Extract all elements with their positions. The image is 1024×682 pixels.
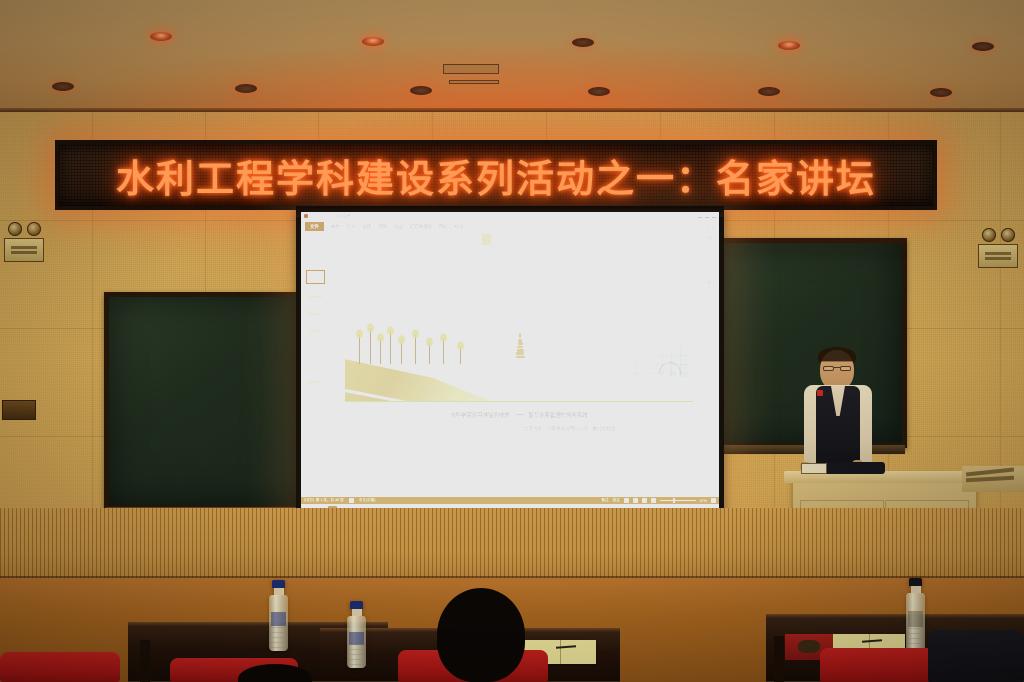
thumbnail-number: 2 [302, 287, 305, 290]
spot-light-icon [1001, 228, 1015, 242]
tree [401, 340, 402, 364]
numbering-button[interactable] [416, 234, 422, 239]
bottle-label [271, 612, 286, 627]
thumbnail-number: 3 [302, 304, 305, 307]
tree [380, 338, 381, 364]
tree [415, 334, 416, 364]
align-center-button[interactable] [432, 234, 438, 239]
slide-headline: 水科学实验高端监测技术 ⟶ 智慧水务管理的创新实践 [450, 411, 587, 419]
recessed-ceiling-light [572, 38, 594, 47]
table-leg [774, 636, 784, 682]
blackboard-left [104, 292, 304, 510]
reset-button[interactable] [334, 238, 352, 240]
slide-footnote: 本页内容仅供参考 [367, 468, 393, 473]
strikethrough-button[interactable] [393, 234, 399, 239]
underline-button[interactable] [377, 234, 383, 239]
thumbnail-slide[interactable] [306, 372, 325, 386]
bottle-neck [911, 586, 921, 593]
ceiling-vent [449, 80, 499, 84]
wall-sign-plate [978, 244, 1018, 268]
notes-pane-button[interactable]: 备注 [706, 276, 717, 288]
slide-sorter-icon[interactable] [633, 498, 638, 503]
water-bottle [347, 601, 366, 668]
blueprint-grid-overlay [554, 289, 693, 401]
recessed-ceiling-light [930, 88, 952, 97]
tab-review[interactable]: 审阅 [439, 224, 448, 232]
lecture-hall-photo: 水利工程学科建设系列活动之一：名家讲坛 演示文稿 文件 开始 插入 设计 切换 … [0, 0, 1024, 682]
language-label[interactable]: 中文(中国) [359, 498, 376, 503]
notes-toggle[interactable]: 备注 [601, 498, 608, 503]
tree [443, 338, 444, 364]
tree [390, 331, 391, 364]
thumbnail-slide[interactable] [306, 355, 325, 369]
thumbnail-number: 1 [302, 270, 305, 273]
align-right-button[interactable] [440, 234, 446, 239]
bullets-button[interactable] [408, 234, 414, 239]
thumbnail-item[interactable]: 8 [302, 389, 325, 403]
vest [816, 386, 860, 472]
ribbon-group-label: 剪贴板 [305, 263, 314, 267]
side-table [962, 466, 1024, 492]
thumbnail-number: 7 [302, 372, 305, 375]
bottle-body [269, 595, 288, 651]
thumbnail-slide[interactable] [306, 389, 325, 403]
fit-to-window-icon[interactable] [711, 498, 716, 503]
headline-right-text: 智慧水务管理的创新实践 [528, 411, 587, 419]
layout-button[interactable] [334, 234, 352, 236]
ribbon-group-clipboard[interactable]: 剪贴板 [301, 232, 319, 267]
recessed-ceiling-light [588, 87, 610, 96]
shape-fill-button[interactable] [482, 234, 491, 245]
spot-light-icon [8, 222, 22, 236]
slideshow-icon[interactable] [651, 498, 656, 503]
glasses-icon [823, 365, 851, 371]
bold-button[interactable] [361, 234, 367, 239]
align-left-button[interactable] [424, 234, 430, 239]
tab-home[interactable]: 开始 [331, 224, 340, 232]
ribbon-group-paragraph[interactable]: 段落 [404, 232, 459, 267]
ppt-ribbon-tabs[interactable]: 文件 开始 插入 设计 切换 动画 幻灯片放映 审阅 视图 登录 [301, 221, 719, 232]
ppt-title-bar: 演示文稿 [301, 212, 719, 221]
thumbnail-item[interactable]: 3 [302, 304, 325, 318]
find-icon[interactable] [699, 235, 705, 240]
wall-outlet-box-left [2, 400, 36, 420]
bottle-body [347, 616, 366, 668]
ppt-ribbon[interactable]: 剪贴板 幻灯片 [301, 232, 719, 268]
ppt-status-bar[interactable]: 幻灯片 第 1 张，共 46 张 中文(中国) 备注 批注 87% [301, 497, 719, 504]
ribbon-group-slides[interactable]: 幻灯片 [319, 232, 357, 267]
shadow-button[interactable] [385, 234, 391, 239]
arrow-icon: ⟶ [516, 412, 523, 418]
replace-icon[interactable] [708, 242, 714, 247]
thumbnail-item[interactable]: 7 [302, 372, 325, 386]
led-banner-text: 水利工程学科建设系列活动之一：名家讲坛 [116, 148, 876, 203]
italic-button[interactable] [369, 234, 375, 239]
spot-light-icon [982, 228, 996, 242]
new-slide-button[interactable] [323, 234, 332, 254]
tab-slideshow[interactable]: 幻灯片放映 [410, 224, 432, 232]
normal-view-icon[interactable] [624, 498, 629, 503]
bottle-ribs [347, 644, 366, 665]
thumbnail-slide[interactable] [306, 304, 325, 318]
thumbnail-slide[interactable] [306, 321, 325, 335]
ribbon-group-label: 绘图 [463, 263, 491, 267]
section-button[interactable] [334, 241, 345, 243]
powerpoint-window: 演示文稿 文件 开始 插入 设计 切换 动画 幻灯片放映 审阅 视图 登录 剪贴… [301, 212, 719, 511]
laptop-on-lectern [801, 463, 827, 474]
save-icon[interactable] [304, 214, 308, 218]
thumbnail-number: 6 [302, 355, 305, 358]
tab-insert[interactable]: 插入 [347, 224, 356, 232]
slide-subtitle: 北京尚水信息技术股份有限公司 曲兆松博士 [524, 426, 616, 432]
ceiling-vent [443, 64, 499, 74]
table-leg [140, 640, 150, 682]
projection-screen: 演示文稿 文件 开始 插入 设计 切换 动画 幻灯片放映 审阅 视图 登录 剪贴… [296, 206, 724, 518]
ribbon-group-label: 字体 [361, 263, 399, 267]
water-bottle [269, 580, 288, 651]
jacket-on-chair [928, 630, 1024, 682]
thumbnail-item[interactable]: 2 [302, 287, 325, 301]
pagoda [516, 333, 525, 359]
led-banner: 水利工程学科建设系列活动之一：名家讲坛 [55, 140, 937, 210]
thumbnail-number: 5 [302, 338, 305, 341]
ceiling [0, 0, 1024, 112]
bottle-ribs [269, 625, 288, 647]
tab-view[interactable]: 视图 [455, 224, 464, 232]
bottle-neck [352, 609, 362, 616]
spot-light-icon [27, 222, 41, 236]
recessed-ceiling-light [362, 37, 384, 46]
sign-in-link[interactable]: 登录 [707, 224, 715, 232]
thumbnail-number: 4 [302, 321, 305, 324]
ribbon-group-label: 段落 [408, 263, 454, 267]
bottle-label [908, 611, 923, 627]
thumbnail-item[interactable]: 5 [302, 338, 325, 352]
bottle-cap [272, 580, 285, 588]
wall-speaker-fixture-left [4, 222, 44, 262]
zoom-slider[interactable] [660, 500, 696, 501]
ribbon-group-editing[interactable]: 编辑 [699, 232, 719, 267]
thumbnail-slide[interactable] [306, 287, 325, 301]
slide-editing-area[interactable]: 水科学实验高端监测技术 ⟶ 智慧水务管理的创新实践 北京尚水信息技术股份有限公司… [327, 268, 719, 497]
headline-left-text: 水科学实验高端监测技术 [450, 411, 509, 419]
audience-head [437, 588, 525, 682]
bottle-cap [909, 578, 922, 586]
recessed-ceiling-light [52, 82, 74, 91]
thumbnail-item[interactable]: 6 [302, 355, 325, 369]
thumbnail-slide[interactable] [306, 338, 325, 352]
ppt-workspace: 1 2 3 4 5 [301, 268, 719, 497]
bottle-body [906, 593, 925, 653]
recessed-ceiling-light [758, 87, 780, 96]
recessed-ceiling-light [972, 42, 994, 51]
slide-thumbnail-panel[interactable]: 1 2 3 4 5 [301, 268, 327, 497]
zoom-level[interactable]: 87% [700, 499, 707, 503]
window-controls[interactable] [698, 214, 716, 218]
audience-chair [0, 652, 120, 682]
bottle-ribs [906, 625, 925, 649]
bottle-neck [274, 588, 284, 595]
ribbon-group-label: 幻灯片 [323, 263, 352, 267]
tree [429, 342, 430, 364]
thumbnail-slide[interactable] [306, 270, 325, 284]
current-slide[interactable]: 水科学实验高端监测技术 ⟶ 智慧水务管理的创新实践 北京尚水信息技术股份有限公司… [337, 274, 701, 489]
thumbnail-number: 8 [302, 389, 305, 392]
microphone [823, 462, 885, 474]
tree [370, 328, 371, 364]
ppt-document-title: 演示文稿 [336, 214, 350, 219]
side-table-item [966, 476, 1014, 483]
slide-counter: 幻灯片 第 1 张，共 46 张 [304, 498, 344, 503]
tree [460, 346, 461, 364]
comments-toggle[interactable]: 批注 [613, 498, 620, 503]
ribbon-group-drawing[interactable]: 绘图 [459, 232, 496, 267]
tab-design[interactable]: 设计 [362, 224, 371, 232]
shapes-gallery[interactable] [463, 234, 480, 245]
lapel-badge [817, 390, 823, 396]
thumbnail-item[interactable]: 1 [302, 270, 325, 284]
folder-emblem [798, 640, 819, 654]
paste-button[interactable] [305, 234, 314, 254]
wall-sign-plate [4, 238, 44, 262]
language-icon[interactable] [349, 498, 354, 503]
tree [359, 334, 360, 364]
quick-access-toolbar[interactable] [311, 215, 333, 217]
thumbnail-item[interactable]: 4 [302, 321, 325, 335]
line-spacing-button[interactable] [448, 234, 454, 239]
bottle-cap [350, 601, 363, 609]
reading-view-icon[interactable] [642, 498, 647, 503]
ribbon-group-label: 编辑 [707, 235, 714, 240]
tab-transitions[interactable]: 切换 [378, 224, 387, 232]
recessed-ceiling-light [150, 32, 172, 41]
tab-file[interactable]: 文件 [305, 222, 324, 231]
tab-animations[interactable]: 动画 [394, 224, 403, 232]
slide-hero-image [345, 289, 693, 402]
table-edge [766, 614, 1024, 618]
water-bottle [906, 578, 925, 653]
recessed-ceiling-light [778, 41, 800, 50]
wall-speaker-fixture-right [978, 228, 1018, 268]
bottle-label [349, 632, 364, 646]
recessed-ceiling-light [235, 84, 257, 93]
recessed-ceiling-light [410, 86, 432, 95]
select-icon[interactable] [708, 249, 714, 254]
ribbon-group-font[interactable]: 字体 [357, 232, 404, 267]
